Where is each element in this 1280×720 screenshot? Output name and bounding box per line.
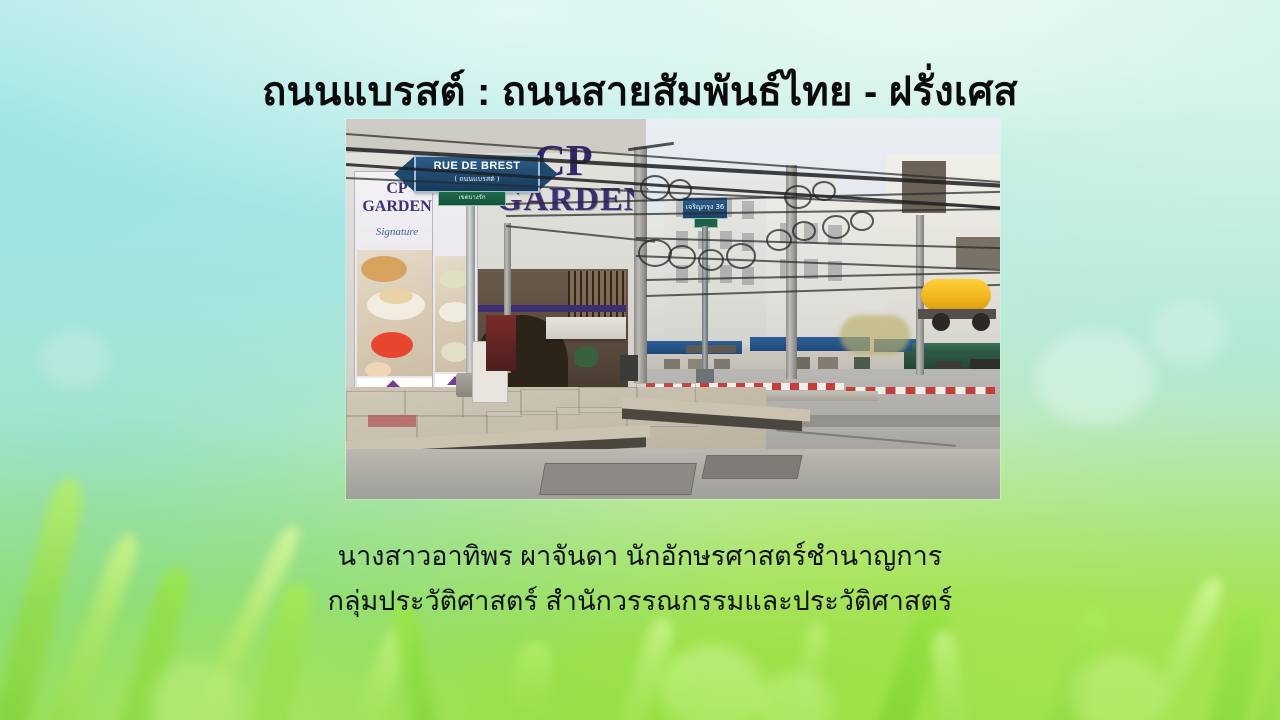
caption-line-2: กลุ่มประวัติศาสตร์ สำนักวรรณกรรมและประวั… — [0, 579, 1280, 624]
awning-green-far — [912, 343, 1000, 353]
menu-banner-food-photo — [357, 250, 437, 376]
menu-banner-front: CP GARDEN Signature — [354, 171, 440, 395]
author-caption: นางสาวอาทิพร ผาจันดา นักอักษรศาสตร์ชำนาญ… — [0, 534, 1280, 624]
sidewalk-red-patch — [368, 415, 416, 427]
presentation-slide: ถนนแบรสต์ : ถนนสายสัมพันธ์ไทย - ฝรั่งเศส — [0, 0, 1280, 720]
tanker-truck-wheel-rear — [972, 313, 990, 331]
drain-slot — [686, 345, 736, 353]
tree-canopy — [840, 315, 910, 355]
soi-sign-base — [696, 369, 714, 383]
photo-content: CP GARDEN CP GARDEN Signature ● — [346, 119, 1000, 499]
slide-photo: CP GARDEN CP GARDEN Signature ● — [346, 119, 1000, 499]
page-title: ถนนแบรสต์ : ถนนสายสัมพันธ์ไทย - ฝรั่งเศส — [0, 69, 1280, 116]
menu-banner-script: Signature — [355, 226, 439, 238]
manhole-cover — [539, 463, 697, 495]
poster-red — [486, 315, 516, 371]
tanker-truck-wheel-front — [932, 313, 950, 331]
manhole-cover-2 — [701, 455, 802, 479]
street-sign-district-text: เขตบางรัก — [439, 192, 505, 204]
tanker-truck-tank — [921, 279, 991, 311]
building-dark-band-2 — [956, 237, 1000, 269]
street-sign-arrow-left — [394, 155, 416, 193]
street-sign-district-plate: เขตบางรัก — [438, 191, 506, 206]
trash-bin — [620, 355, 638, 381]
storefront-canopy — [546, 317, 626, 339]
caption-line-1: นางสาวอาทิพร ผาจันดา นักอักษรศาสตร์ชำนาญ… — [0, 534, 1280, 579]
planter-shrub — [574, 347, 598, 367]
soi-sign-pole — [702, 226, 708, 372]
